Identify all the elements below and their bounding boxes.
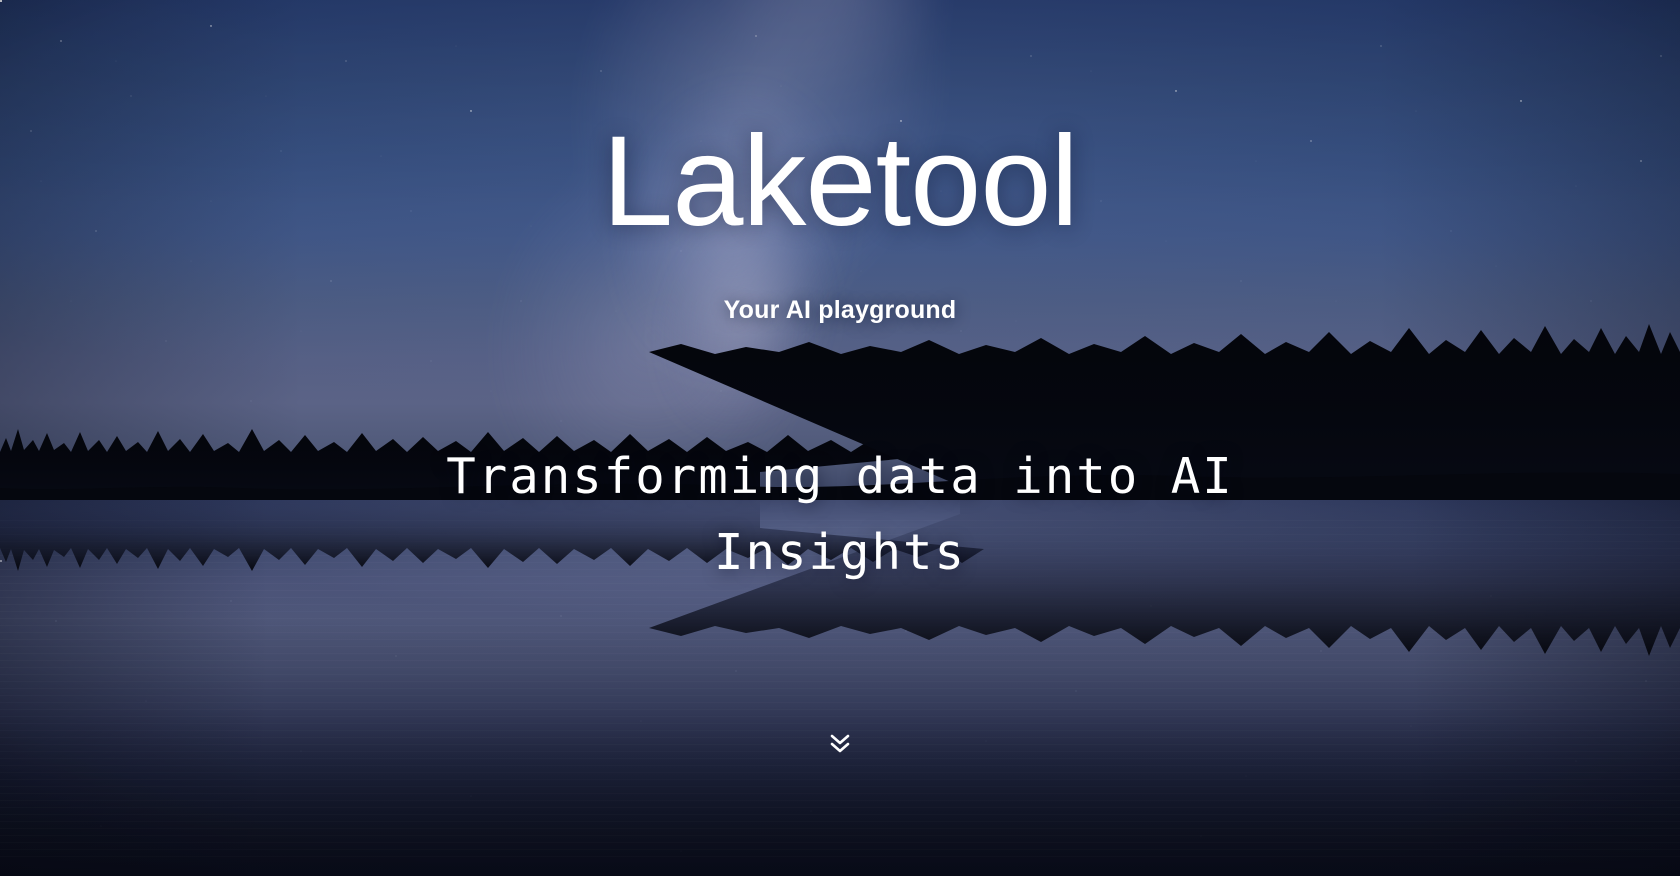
scroll-down-button[interactable] <box>823 726 857 760</box>
page-title: Laketool <box>602 118 1078 246</box>
double-chevron-down-icon <box>829 731 851 755</box>
hero-headline: Transforming data into AI Insights <box>340 439 1340 591</box>
hero-section: Laketool Your AI playground Transforming… <box>0 0 1680 876</box>
hero-tagline: Your AI playground <box>724 296 957 325</box>
